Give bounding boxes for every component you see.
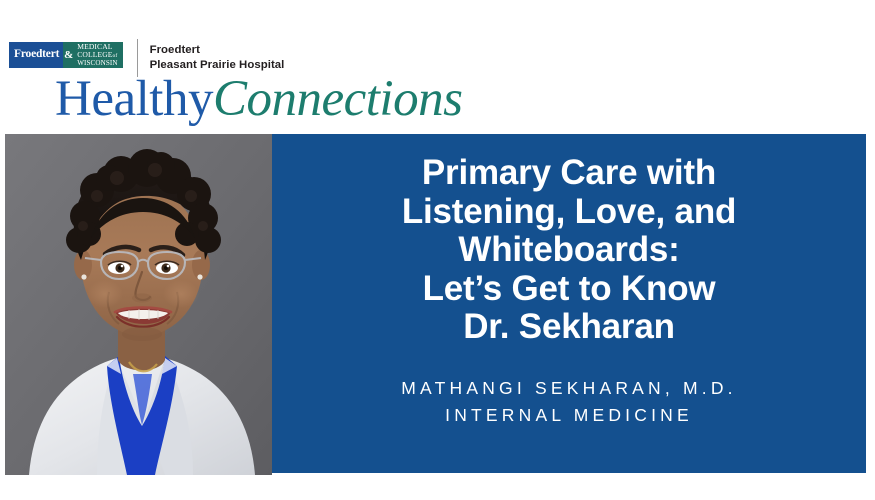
slide-title-line-1: Primary Care with (299, 154, 839, 193)
slide-title-line-4: Let’s Get to Know (299, 270, 839, 309)
wordmark-connections: Connections (213, 71, 462, 127)
slide-title-line-5: Dr. Sekharan (299, 308, 839, 347)
organization-logo-lockup: Froedtert & MEDICAL COLLEGEof WISCONSIN … (9, 42, 284, 74)
wordmark-healthy: Healthy (55, 71, 213, 127)
presenter-specialty: INTERNAL MEDICINE (289, 402, 849, 429)
mcw-line-3: WISCONSIN (77, 60, 117, 67)
medical-college-wisconsin-logo-text: MEDICAL COLLEGEof WISCONSIN (74, 42, 122, 68)
slide-title-line-3: Whiteboards: (299, 231, 839, 270)
title-panel: Primary Care with Listening, Love, and W… (272, 134, 866, 473)
brand-header: Froedtert & MEDICAL COLLEGEof WISCONSIN … (0, 0, 875, 134)
presentation-slide: Froedtert & MEDICAL COLLEGEof WISCONSIN … (0, 0, 875, 500)
healthy-connections-wordmark: HealthyConnections (55, 74, 462, 125)
slide-body: Primary Care with Listening, Love, and W… (0, 134, 875, 475)
slide-title-line-2: Listening, Love, and (299, 193, 839, 232)
slide-title: Primary Care with Listening, Love, and W… (299, 154, 839, 347)
doctor-portrait-photo (5, 134, 272, 475)
froedtert-mcw-logo-icon: Froedtert & MEDICAL COLLEGEof WISCONSIN (9, 42, 123, 68)
logo-ampersand: & (63, 42, 74, 68)
hospital-name-line-1: Froedtert (150, 43, 285, 58)
froedtert-logo-text: Froedtert (9, 42, 63, 68)
hospital-name: Froedtert Pleasant Prairie Hospital (150, 42, 285, 74)
slide-subtitle: MATHANGI SEKHARAN, M.D. INTERNAL MEDICIN… (289, 375, 849, 429)
presenter-name: MATHANGI SEKHARAN, M.D. (289, 375, 849, 402)
